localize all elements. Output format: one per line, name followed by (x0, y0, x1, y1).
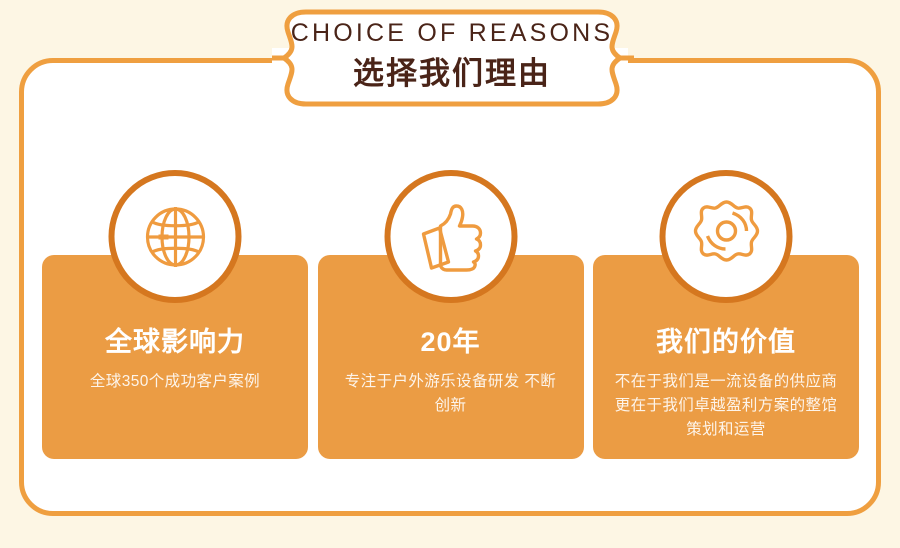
feature-cards: 全球影响力 全球350个成功客户案例 20年 专注于户外游乐设备研发 不断创新 (42, 255, 859, 460)
poster-root: CHOICE OF REASONS 选择我们理由 (0, 0, 900, 548)
card-description: 不在于我们是一流设备的供应商 更在于我们卓越盈利方案的整馆策划和运营 (612, 370, 840, 442)
banner-title-cn: 选择我们理由 (353, 58, 551, 89)
card-title: 我们的价值 (593, 329, 859, 356)
feature-card-global-influence[interactable]: 全球影响力 全球350个成功客户案例 (42, 255, 308, 459)
card-title: 20年 (318, 329, 584, 356)
gear-icon (660, 170, 793, 303)
feature-card-twenty-years[interactable]: 20年 专注于户外游乐设备研发 不断创新 (318, 255, 584, 459)
feature-card-our-value[interactable]: 我们的价值 不在于我们是一流设备的供应商 更在于我们卓越盈利方案的整馆策划和运营 (593, 255, 859, 459)
banner-title-en: CHOICE OF REASONS (291, 21, 614, 46)
banner-text-block: CHOICE OF REASONS 选择我们理由 (262, 2, 642, 110)
thumbs-up-icon (384, 170, 517, 303)
card-title: 全球影响力 (42, 329, 308, 356)
card-description: 全球350个成功客户案例 (69, 370, 281, 394)
globe-icon (109, 170, 242, 303)
header-banner: CHOICE OF REASONS 选择我们理由 (262, 2, 642, 110)
card-description: 专注于户外游乐设备研发 不断创新 (345, 370, 557, 418)
